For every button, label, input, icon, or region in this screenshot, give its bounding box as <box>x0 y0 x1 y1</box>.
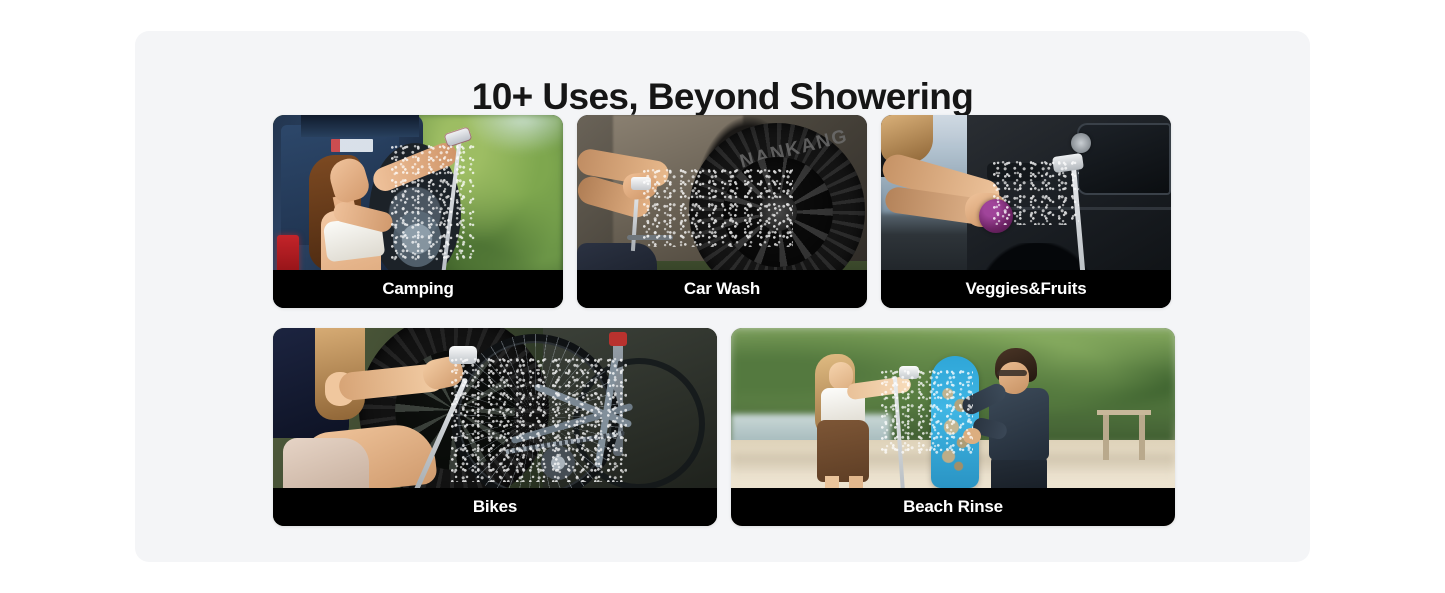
beach-post-right <box>1139 412 1145 460</box>
use-card-label-beach-rinse: Beach Rinse <box>731 488 1175 526</box>
bike-rack-clamp <box>609 332 627 346</box>
beach-crossbeam <box>1097 410 1151 415</box>
beach-post-left <box>1103 412 1109 460</box>
use-card-camping[interactable]: Camping <box>273 115 563 308</box>
suv-decal <box>331 139 373 152</box>
use-card-label-car-wash: Car Wash <box>577 270 867 308</box>
page-root: 10+ Uses, Beyond Showering <box>0 0 1445 593</box>
use-card-veggies-fruits[interactable]: Veggies&Fruits <box>881 115 1171 308</box>
suv-roof <box>301 115 419 137</box>
water-spray <box>391 143 475 261</box>
sunglasses-icon <box>997 370 1027 376</box>
uses-row-bottom: Bikes <box>273 328 1174 526</box>
uses-row-top: Camping NANKANG <box>273 115 1174 308</box>
use-card-label-bikes: Bikes <box>273 488 717 526</box>
uses-grid: Camping NANKANG <box>273 115 1174 526</box>
use-card-label-veggies-fruits: Veggies&Fruits <box>881 270 1171 308</box>
car-window <box>1077 123 1171 195</box>
water-spray <box>993 159 1079 225</box>
water-spray <box>643 167 793 247</box>
feature-panel: 10+ Uses, Beyond Showering <box>135 31 1310 562</box>
water-spray <box>451 356 627 482</box>
use-card-bikes[interactable]: Bikes <box>273 328 717 526</box>
use-card-car-wash[interactable]: NANKANG Car Wash <box>577 115 867 308</box>
use-card-label-camping: Camping <box>273 270 563 308</box>
woman-shorts <box>817 420 869 482</box>
water-spray <box>881 368 973 454</box>
sky-patch <box>463 115 563 155</box>
use-card-beach-rinse[interactable]: Beach Rinse <box>731 328 1175 526</box>
shower-mount <box>1071 133 1091 153</box>
page-title: 10+ Uses, Beyond Showering <box>135 74 1310 120</box>
